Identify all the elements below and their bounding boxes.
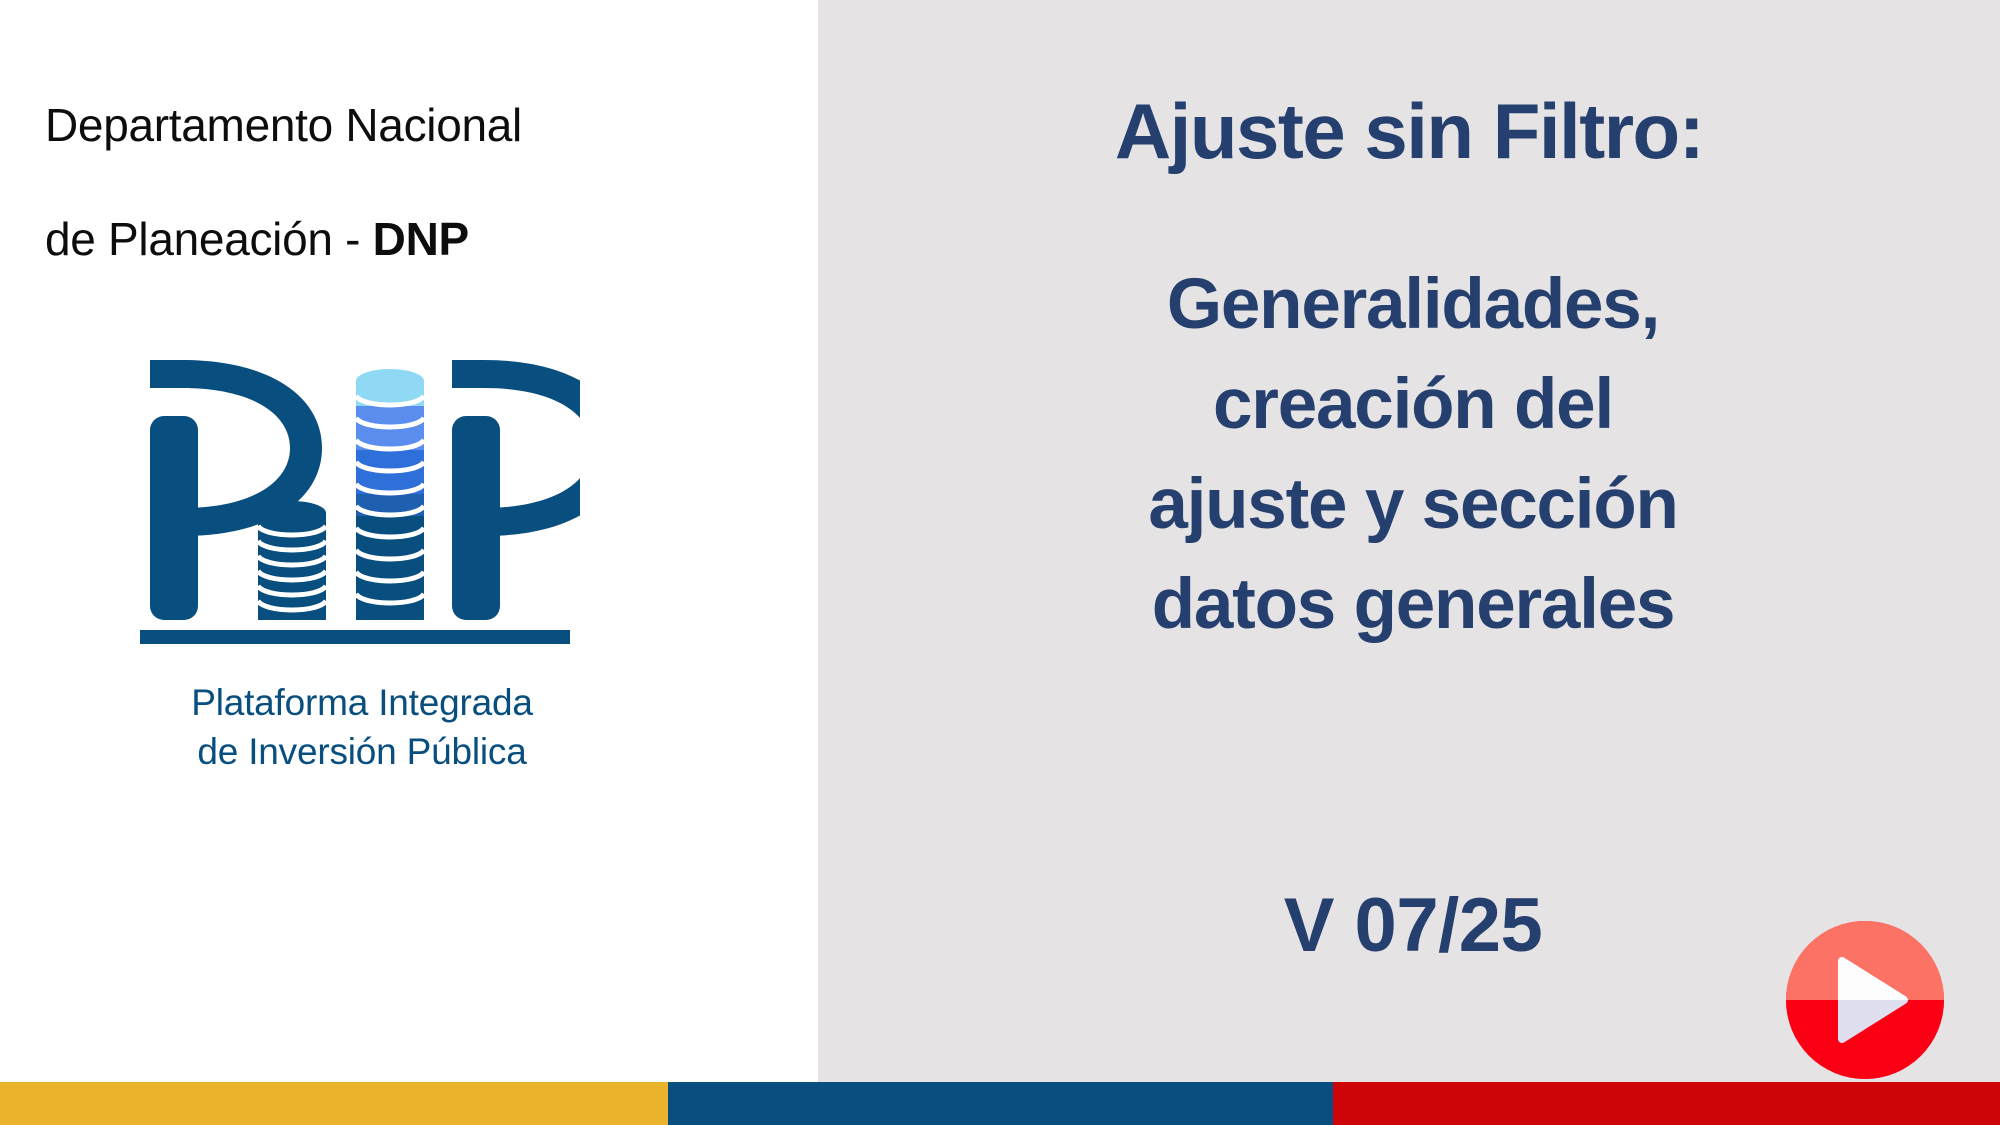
page-title: Ajuste sin Filtro:: [818, 92, 2000, 170]
play-triangle-top: [1786, 921, 1944, 1000]
piip-logo: Plataforma Integrada de Inversión Públic…: [140, 330, 620, 800]
footer-flag-bar: [0, 1082, 2000, 1125]
flag-segment-red: [1333, 1082, 2000, 1125]
piip-logo-caption: Plataforma Integrada de Inversión Públic…: [132, 678, 592, 776]
institution-heading: Departamento Nacional de Planeación - DN…: [45, 40, 745, 268]
institution-line-2: de Planeación -: [45, 213, 373, 265]
logo-coin-stack-1: [258, 501, 326, 620]
logo-coin-stack-2: [356, 369, 424, 620]
flag-segment-blue: [668, 1082, 1333, 1125]
play-icon[interactable]: [1786, 921, 1944, 1079]
flag-segment-yellow: [0, 1082, 668, 1125]
institution-acronym: DNP: [373, 213, 469, 265]
page-subtitle: Generalidades, creación del ajuste y sec…: [838, 255, 1988, 655]
right-panel: Ajuste sin Filtro: Generalidades, creaci…: [818, 0, 2000, 1082]
piip-logo-svg: [140, 330, 580, 670]
left-panel: Departamento Nacional de Planeación - DN…: [0, 0, 818, 1082]
slide-root: Departamento Nacional de Planeación - DN…: [0, 0, 2000, 1125]
piip-logo-mark: [140, 330, 580, 670]
logo-baseline-rule: [140, 630, 570, 644]
institution-line-1: Departamento Nacional: [45, 99, 522, 151]
play-triangle-bottom: [1786, 1000, 1944, 1079]
